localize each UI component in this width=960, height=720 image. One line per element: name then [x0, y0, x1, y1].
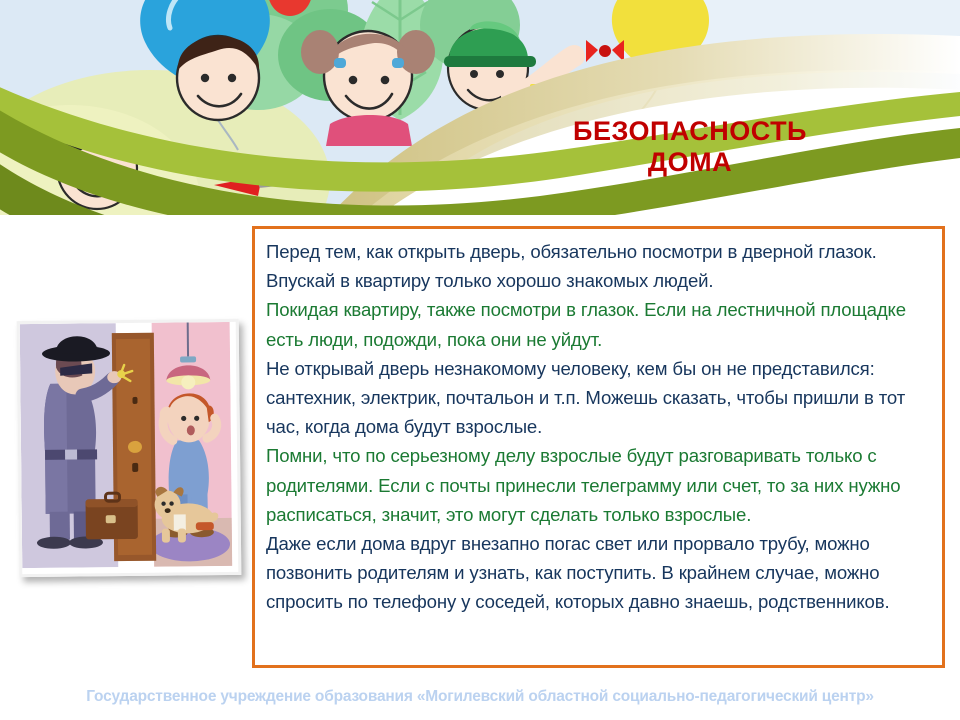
rule-paragraph-5: Даже если дома вдруг внезапно погас свет… — [266, 529, 930, 617]
door-peephole — [132, 397, 137, 404]
rule-paragraph-1: Перед тем, как открыть дверь, обязательн… — [266, 237, 930, 295]
briefcase — [85, 493, 137, 540]
page-title: БЕЗОПАСНОСТЬ ДОМА — [520, 116, 860, 179]
title-line-1: БЕЗОПАСНОСТЬ — [520, 116, 860, 147]
organization-name: Государственное учреждение образования «… — [86, 688, 874, 705]
rule-paragraph-2: Покидая квартиру, также посмотри в глазо… — [266, 295, 930, 353]
rule-paragraph-4: Помни, что по серьезному делу взрослые б… — [266, 441, 930, 529]
rule-paragraph-3: Не открывай дверь незнакомому человеку, … — [266, 354, 930, 442]
stranger-at-the-door-illustration — [17, 319, 242, 577]
title-line-2: ДОМА — [520, 147, 860, 178]
door-lock — [132, 463, 138, 472]
child-boy-brown-hair — [177, 36, 259, 120]
safety-rules-textbox: Перед тем, как открыть дверь, обязательн… — [252, 226, 945, 668]
footer: Государственное учреждение образования «… — [0, 688, 960, 706]
header-decoration — [0, 0, 960, 215]
slide-root: БЕЗОПАСНОСТЬ ДОМА — [0, 0, 960, 720]
